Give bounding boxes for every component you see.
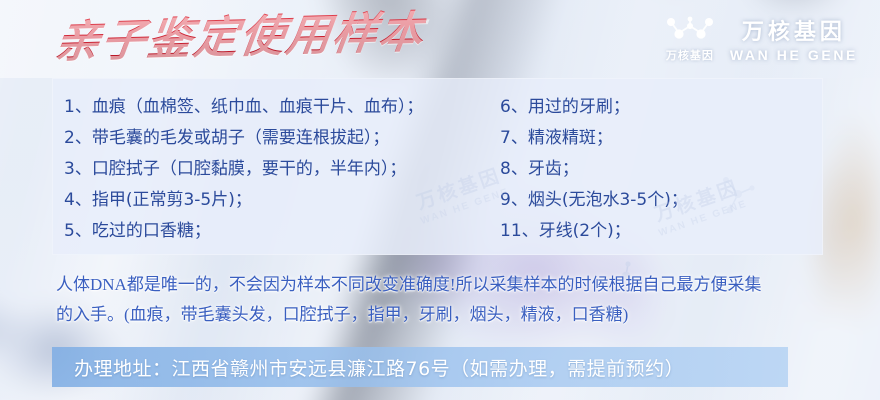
body-paragraph: 人体DNA都是唯一的，不会因为样本不同改变准确度!所以采集样本的时候根据自己最方… bbox=[56, 270, 856, 330]
logo-mark: 万核基因 bbox=[664, 15, 716, 63]
list-item: 1、血痕（血棉签、纸巾血、血痕干片、血布）； bbox=[64, 92, 492, 123]
body-line-1: 人体DNA都是唯一的，不会因为样本不同改变准确度!所以采集样本的时候根据自己最方… bbox=[56, 270, 856, 300]
list-item: 11、牙线(2个)； bbox=[500, 216, 823, 247]
body-line-2: 的入手。(血痕，带毛囊头发，口腔拭子，指甲，牙刷，烟头，精液，口香糖) bbox=[56, 300, 856, 330]
molecule-network-icon bbox=[664, 15, 716, 45]
logo-name-en: WAN HE GENE bbox=[730, 47, 858, 63]
logo-wordmark: 万核基因 WAN HE GENE bbox=[730, 14, 858, 63]
brand-logo: 万核基因 万核基因 WAN HE GENE bbox=[664, 14, 858, 63]
sample-list-column-left: 1、血痕（血棉签、纸巾血、血痕干片、血布）； 2、带毛囊的毛发或胡子（需要连根拔… bbox=[52, 92, 492, 255]
list-item: 5、吃过的口香糖； bbox=[64, 216, 492, 247]
sample-list-panel: 1、血痕（血棉签、纸巾血、血痕干片、血布）； 2、带毛囊的毛发或胡子（需要连根拔… bbox=[52, 78, 823, 255]
list-item: 4、指甲(正常剪3-5片)； bbox=[64, 185, 492, 216]
list-item: 8、牙齿； bbox=[500, 154, 823, 185]
list-item: 9、烟头(无泡水3-5个)； bbox=[500, 185, 823, 216]
list-item: 6、用过的牙刷； bbox=[500, 92, 823, 123]
poster-canvas: 亲子鉴定使用样本 bbox=[0, 0, 880, 400]
address-bar: 办理地址：江西省赣州市安远县濂江路76号（如需办理，需提前预约） bbox=[52, 347, 788, 387]
list-item: 3、口腔拭子（口腔黏膜，要干的，半年内）； bbox=[64, 154, 492, 185]
page-title: 亲子鉴定使用样本 bbox=[51, 3, 428, 73]
logo-name-cn: 万核基因 bbox=[742, 14, 846, 46]
list-item: 7、精液精斑； bbox=[500, 123, 823, 154]
list-item: 2、带毛囊的毛发或胡子（需要连根拔起）； bbox=[64, 123, 492, 154]
logo-mark-label: 万核基因 bbox=[666, 47, 714, 63]
sample-list-column-right: 6、用过的牙刷； 7、精液精斑； 8、牙齿； 9、烟头(无泡水3-5个)； 11… bbox=[492, 92, 823, 255]
sample-list-columns: 1、血痕（血棉签、纸巾血、血痕干片、血布）； 2、带毛囊的毛发或胡子（需要连根拔… bbox=[52, 78, 823, 255]
address-text: 办理地址：江西省赣州市安远县濂江路76号（如需办理，需提前预约） bbox=[74, 354, 684, 381]
